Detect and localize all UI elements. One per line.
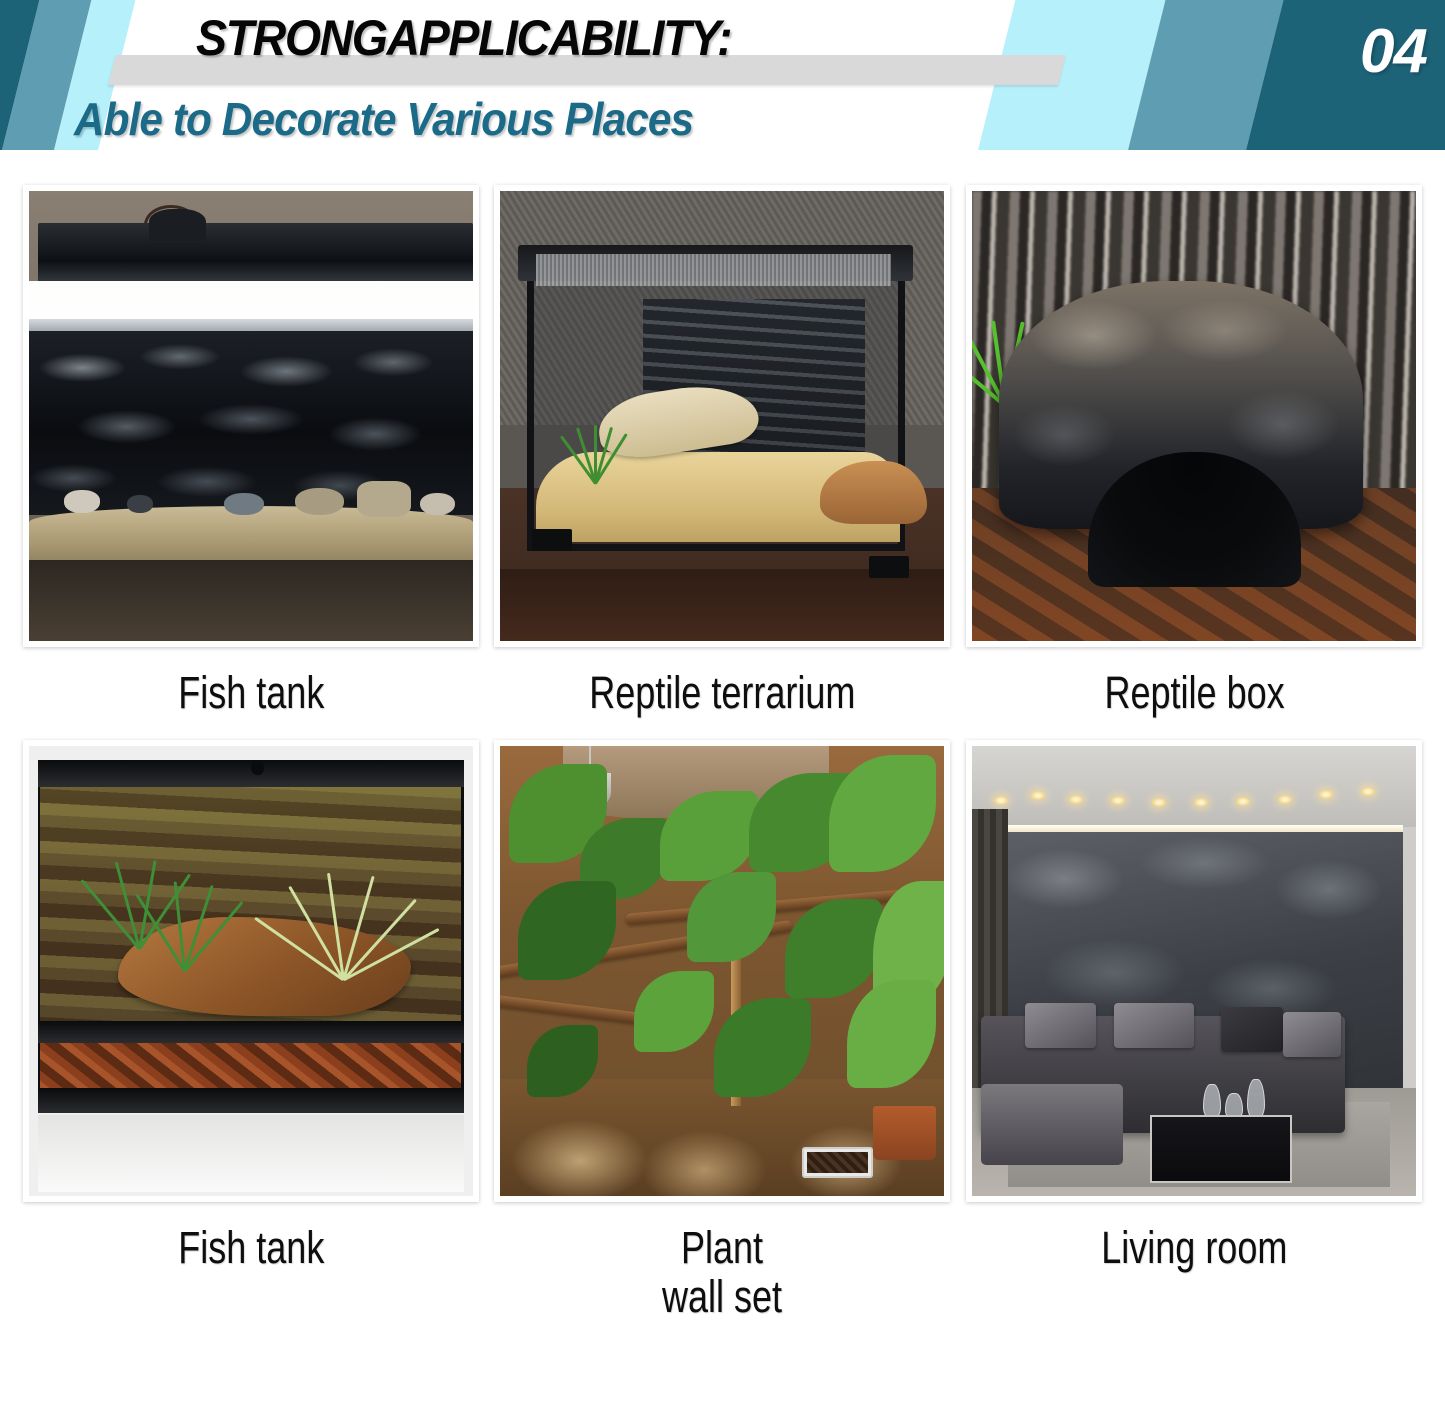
- photo-living-room: [966, 740, 1422, 1202]
- gallery-item: Living room: [965, 740, 1423, 1295]
- gallery-item: Reptile box: [965, 185, 1423, 740]
- gallery-item: Fish tank: [22, 740, 480, 1295]
- gallery-item: Fish tank: [22, 185, 480, 740]
- gallery-item-caption: Living room: [1101, 1224, 1287, 1273]
- page-subtitle: Able to Decorate Various Places: [74, 92, 693, 146]
- gallery-item: Plant wall set: [494, 740, 952, 1295]
- photo-reptile-box: [966, 185, 1422, 647]
- gallery-item-caption: Fish tank: [178, 1224, 324, 1273]
- gallery-item-caption: Reptile terrarium: [589, 669, 855, 718]
- application-gallery-grid: Fish tank: [0, 185, 1445, 1405]
- photo-plant-wall-set: [494, 740, 950, 1202]
- page-title: STRONGAPPLICABILITY:: [196, 9, 731, 67]
- gallery-item-caption: Plant wall set: [662, 1224, 782, 1321]
- photo-fish-tank-1: [23, 185, 479, 647]
- infographic-page: STRONGAPPLICABILITY: Able to Decorate Va…: [0, 0, 1445, 1405]
- gallery-item-caption: Fish tank: [178, 669, 324, 718]
- photo-fish-tank-2: [23, 740, 479, 1202]
- header-banner: STRONGAPPLICABILITY: Able to Decorate Va…: [0, 0, 1445, 185]
- photo-reptile-terrarium: [494, 185, 950, 647]
- gallery-item: Reptile terrarium: [494, 185, 952, 740]
- gallery-item-caption: Reptile box: [1104, 669, 1284, 718]
- section-number-badge: 04: [1360, 16, 1427, 87]
